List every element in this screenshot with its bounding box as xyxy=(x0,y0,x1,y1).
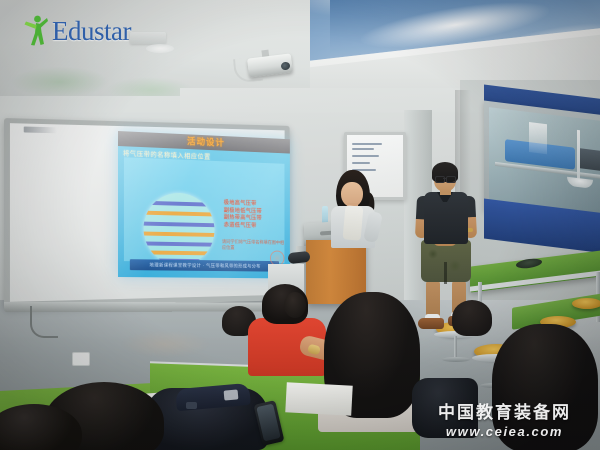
pressure-belt-globe-diagram xyxy=(144,192,215,266)
slide-footer-bar: 地理新课程课堂教学设计 · 气压带和风带的形成与分布 xyxy=(130,259,279,272)
handwriting-stroke xyxy=(352,162,370,164)
wall-scuff-mark xyxy=(120,330,210,358)
wall-socket[interactable] xyxy=(72,352,90,366)
pressure-band xyxy=(144,221,215,227)
student-head xyxy=(452,300,492,336)
slide-word-bank: 极地高气压带 副极地低气压带 副热带高气压带 赤道低气压带 xyxy=(224,200,281,230)
handwriting-stroke xyxy=(352,143,382,145)
whiteboard-cable xyxy=(30,306,58,338)
ceiling-light-icon xyxy=(146,44,174,53)
pressure-band xyxy=(144,231,215,237)
presenter-scarf xyxy=(343,205,364,240)
handwriting-stroke xyxy=(352,155,379,157)
lab-stool-base xyxy=(442,357,470,362)
ceiling-vent xyxy=(130,32,166,44)
handwriting-stroke xyxy=(352,148,374,150)
ceiea-watermark: 中国教育装备网 www.ceiea.com xyxy=(438,398,571,439)
student-hair-bun xyxy=(284,292,306,318)
ceiea-chinese-name: 中国教育装备网 xyxy=(438,398,571,423)
observer-shorts-seam xyxy=(444,262,447,284)
backpack-buckle-icon xyxy=(186,402,197,409)
edustar-wordmark: Edustar xyxy=(52,16,131,47)
running-person-icon xyxy=(22,14,48,48)
cabinet-glass-reflection xyxy=(529,122,547,154)
cabinet-specimen-dark xyxy=(577,148,600,171)
screenshot-root: 活动设计 将气压带的名称填入相应位置 极地高气压带 副极地低气压带 副热带高气压… xyxy=(0,0,600,450)
whiteboard-brand-logo xyxy=(24,127,57,134)
pressure-band xyxy=(144,250,215,255)
edustar-watermark: Edustar xyxy=(22,14,131,48)
observer-shoe xyxy=(418,318,444,329)
glasses-icon xyxy=(446,176,456,183)
glasses-bridge xyxy=(443,178,446,179)
backpack-tag xyxy=(224,389,239,400)
lab-stool[interactable] xyxy=(572,298,600,309)
slide-footer-text: 地理新课程课堂教学设计 · 气压带和风带的形成与分布 xyxy=(130,259,279,272)
lamp-shade-icon xyxy=(567,177,593,189)
slide-body: 极地高气压带 副极地低气压带 副热带高气压带 赤道低气压带 请同学们将气压带名称… xyxy=(124,157,285,263)
fluorescent-lamp-icon xyxy=(577,130,580,182)
worksheet-papers[interactable] xyxy=(285,382,352,415)
pressure-band xyxy=(144,211,215,217)
projected-slide: 活动设计 将气压带的名称填入相应位置 极地高气压带 副极地低气压带 副热带高气压… xyxy=(118,131,290,278)
word-bank-item: 赤道低气压带 xyxy=(224,222,281,231)
pressure-band xyxy=(144,201,215,207)
ceiea-url: www.ceiea.com xyxy=(438,424,571,439)
pressure-band xyxy=(144,241,215,246)
